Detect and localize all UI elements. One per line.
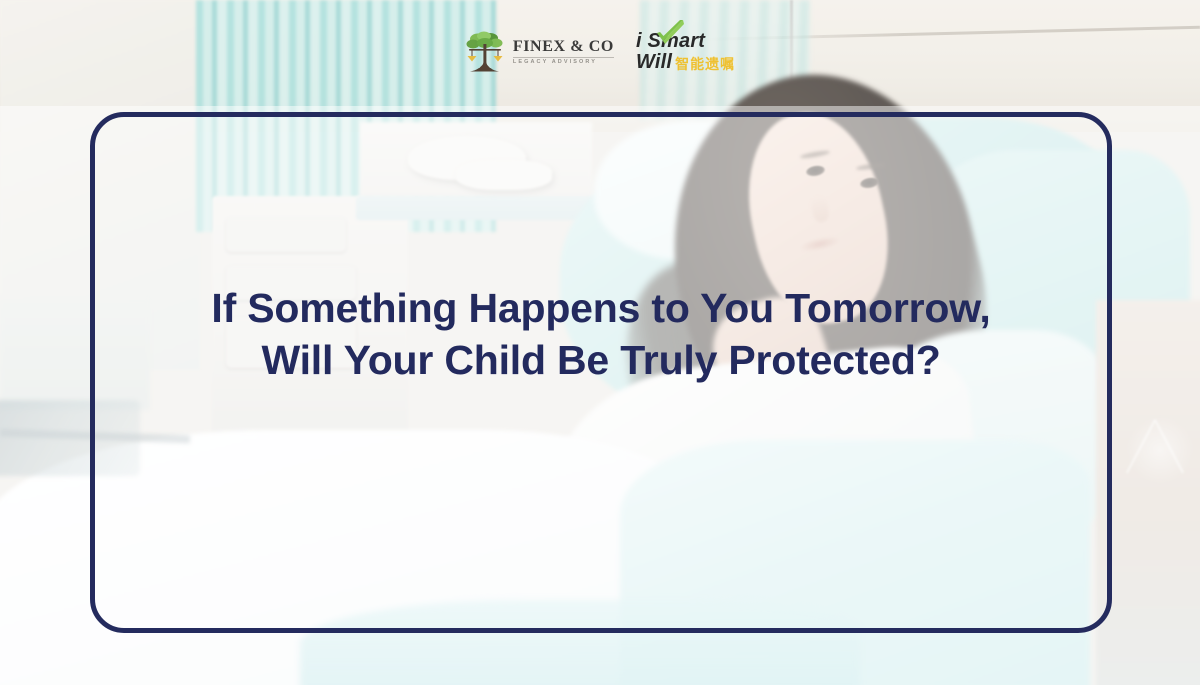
- headline-line-2: Will Your Child Be Truly Protected?: [90, 334, 1112, 386]
- finex-logo-name: FINEX & CO: [513, 39, 614, 55]
- finex-logo[interactable]: FINEX & CO LEGACY ADVISORY: [465, 30, 614, 74]
- flower-decoration: [1120, 410, 1200, 490]
- ismart-logo-chinese: 智能遗嘱: [675, 57, 735, 72]
- finex-logo-tagline: LEGACY ADVISORY: [513, 57, 614, 66]
- green-checkmark-icon: [656, 19, 682, 45]
- logo-bar: FINEX & CO LEGACY ADVISORY i Smart Will …: [0, 26, 1200, 78]
- ismart-will-logo[interactable]: i Smart Will 智能遗嘱: [636, 31, 735, 73]
- ismart-logo-line2: Will: [636, 52, 672, 73]
- cabinet-drawer: [226, 218, 346, 252]
- finex-logo-text: FINEX & CO LEGACY ADVISORY: [513, 39, 614, 66]
- tree-scales-icon: [465, 30, 505, 74]
- hero-banner: FINEX & CO LEGACY ADVISORY i Smart Will …: [0, 0, 1200, 685]
- tray-table-edge: [356, 196, 598, 220]
- mint-blanket-foot: [300, 600, 860, 685]
- tray-object: [456, 160, 552, 190]
- ismart-logo-line2-row: Will 智能遗嘱: [636, 52, 735, 73]
- headline-line-1: If Something Happens to You Tomorrow,: [90, 282, 1112, 334]
- headline: If Something Happens to You Tomorrow, Wi…: [90, 282, 1112, 386]
